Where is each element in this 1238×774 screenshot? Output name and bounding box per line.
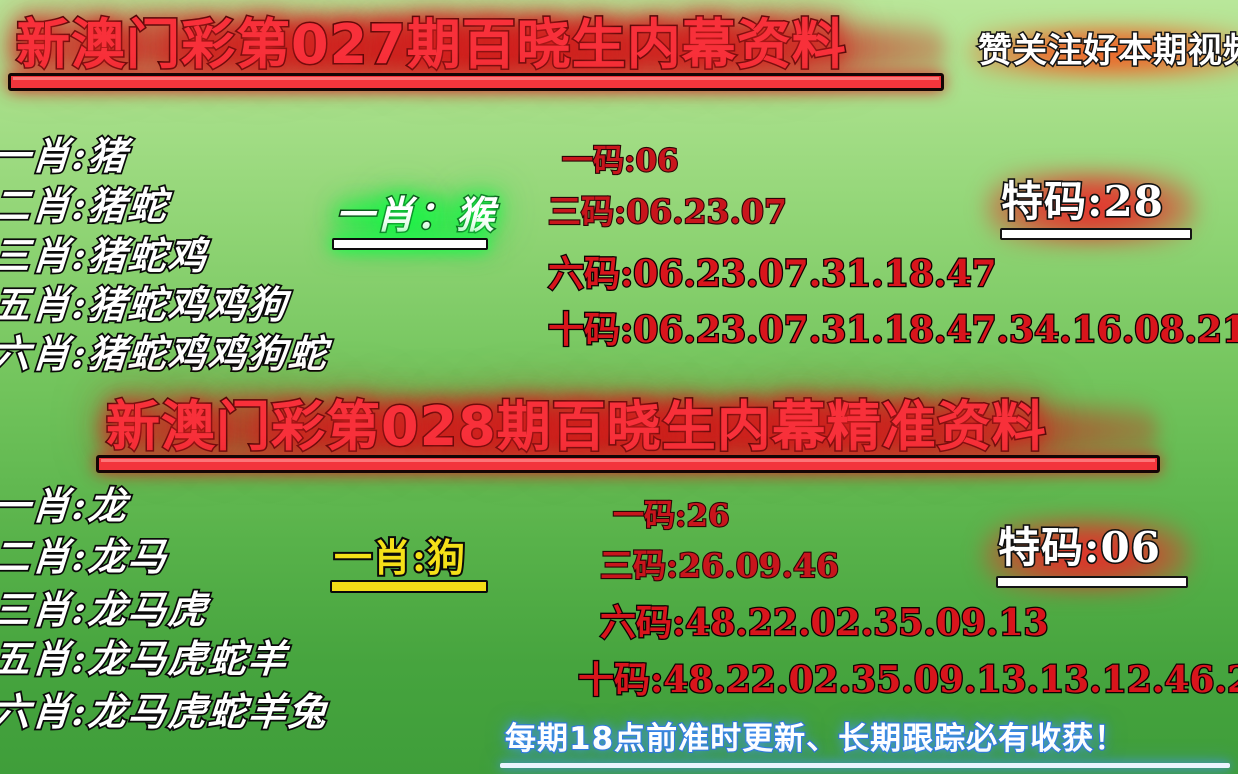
section-1-special-text: 特码:28 [1001, 176, 1164, 228]
section-1-code-value-4: 06.23.07.31.18.47.34.16.08.21 [633, 309, 1238, 351]
section-1-code-label-2: 三码: [548, 192, 626, 231]
section-1-title: 新澳门彩第027期百晓生内幕资料 [16, 14, 847, 76]
section-2-code-row-4: 十码:48.22.02.35.09.13.13.12.46.26.03 [578, 658, 1238, 702]
section-1-zodiac-line-5: 六肖:猪蛇鸡鸡狗蛇 [0, 332, 330, 376]
section-1-special-underline [1000, 228, 1192, 240]
section-2-code-label-4: 十码: [578, 659, 663, 701]
section-1-code-label-1: 一码: [562, 143, 635, 179]
section-2-special-underline [996, 576, 1188, 588]
section-2-code-value-4: 48.22.02.35.09.13.13.12.46.26.03 [663, 659, 1238, 701]
section-1-code-row-2: 三码:06.23.07 [548, 192, 787, 232]
section-1-code-value-1: 06 [635, 143, 678, 179]
section-2-code-row-3: 六码:48.22.02.35.09.13 [600, 601, 1049, 645]
bottom-promo-underline [500, 763, 1230, 768]
section-1-code-row-1: 一码:06 [562, 142, 679, 180]
section-1-zodiac-line-1: 一肖:猪 [0, 134, 130, 178]
section-2-title-underline [96, 455, 1160, 473]
section-2-code-label-2: 三码: [600, 546, 678, 585]
section-1-code-label-3: 六码: [548, 253, 633, 295]
section-1-code-row-4: 十码:06.23.07.31.18.47.34.16.08.21 [548, 308, 1238, 352]
section-1-code-value-3: 06.23.07.31.18.47 [633, 253, 996, 295]
section-1-code-label-4: 十码: [548, 309, 633, 351]
section-2-zodiac-line-4: 五肖:龙马虎蛇羊 [0, 637, 290, 681]
section-2-pick-label: 一肖:狗 [334, 535, 466, 581]
section-2-zodiac-line-1: 一肖:龙 [0, 484, 130, 528]
section-1-pick-label: 一肖：猴 [336, 192, 496, 238]
section-2-zodiac-line-3: 三肖:龙马虎 [0, 588, 210, 632]
section-1-code-value-2: 06.23.07 [626, 192, 787, 231]
section-2-zodiac-line-2: 二肖:龙马 [0, 535, 170, 579]
section-1-zodiac-line-2: 二肖:猪蛇 [0, 184, 170, 228]
section-2-pick-underline [330, 580, 488, 593]
section-2-special-text: 特码:06 [998, 522, 1161, 574]
section-2-title: 新澳门彩第028期百晓生内幕精准资料 [106, 396, 1047, 458]
section-1-zodiac-line-4: 五肖:猪蛇鸡鸡狗 [0, 283, 290, 327]
lottery-poster: 新澳门彩第027期百晓生内幕资料 赞关注好本期视频 一肖:猪 二肖:猪蛇 三肖:… [0, 0, 1238, 774]
section-2-zodiac-line-5: 六肖:龙马虎蛇羊兔 [0, 690, 330, 734]
section-2-code-value-2: 26.09.46 [678, 546, 839, 585]
bottom-promo-text[interactable]: 每期18点前准时更新、长期跟踪必有收获！ [505, 718, 1126, 760]
section-2-code-value-3: 48.22.02.35.09.13 [685, 602, 1048, 644]
section-2-code-label-1: 一码: [613, 498, 686, 534]
section-2-code-label-3: 六码: [600, 602, 685, 644]
section-2-code-value-1: 26 [686, 498, 729, 534]
section-1-title-underline [8, 73, 944, 91]
section-2-code-row-2: 三码:26.09.46 [600, 546, 839, 586]
top-promo-text[interactable]: 赞关注好本期视频 [978, 28, 1238, 74]
section-1-code-row-3: 六码:06.23.07.31.18.47 [548, 252, 997, 296]
section-2-code-row-1: 一码:26 [613, 497, 730, 535]
section-1-zodiac-line-3: 三肖:猪蛇鸡 [0, 234, 210, 278]
section-1-pick-underline [332, 238, 488, 250]
